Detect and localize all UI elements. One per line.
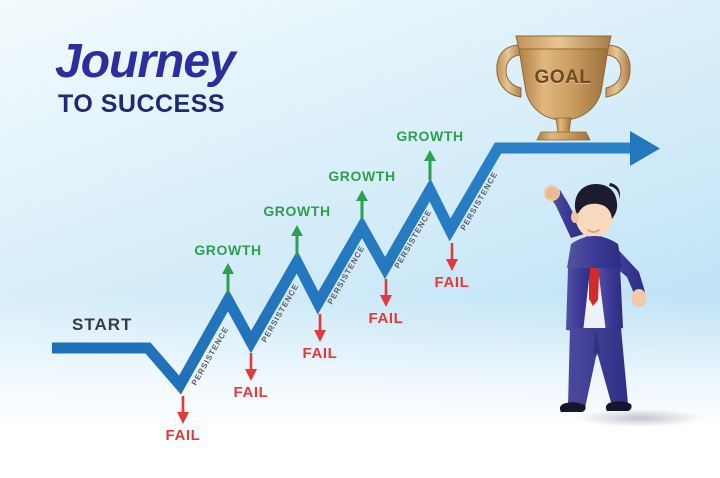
trophy-goal-label: GOAL	[535, 67, 592, 89]
growth-label-3: GROWTH	[328, 169, 395, 183]
title-sub: TO SUCCESS	[58, 92, 235, 117]
fail-label-3: FAIL	[303, 346, 338, 361]
fail-label-4: FAIL	[369, 311, 404, 326]
title-main: Journey	[55, 38, 235, 86]
page-title: Journey TO SUCCESS	[55, 38, 235, 117]
person-shadow	[578, 409, 702, 427]
growth-label-4: GROWTH	[396, 129, 463, 143]
growth-label-1: GROWTH	[194, 243, 261, 257]
businessman-figure	[544, 183, 647, 412]
fail-label-2: FAIL	[234, 385, 269, 400]
fail-label-5: FAIL	[435, 275, 470, 290]
fail-label-1: FAIL	[166, 428, 201, 443]
path-arrowhead	[630, 131, 660, 166]
infographic-canvas: Journey TO SUCCESS GOAL START GROWTH GRO…	[0, 0, 720, 478]
start-label: START	[72, 316, 132, 333]
growth-label-2: GROWTH	[263, 204, 330, 218]
